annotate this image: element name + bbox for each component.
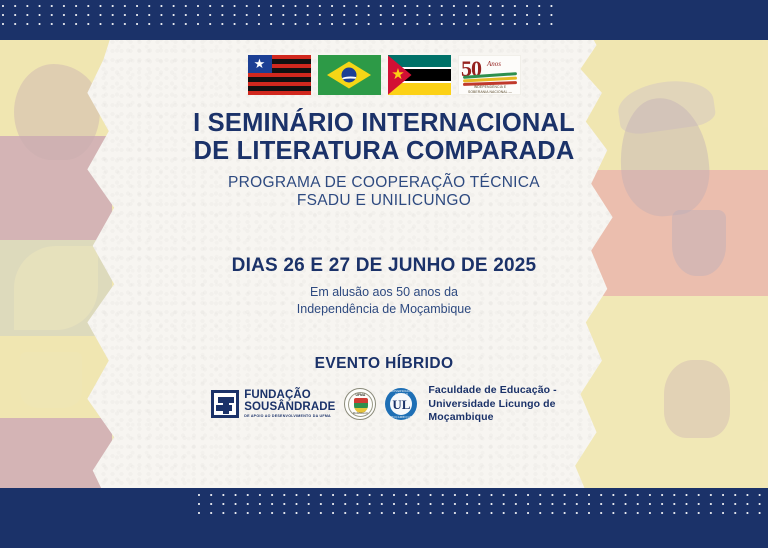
- mozambique-star-icon: ★: [391, 67, 406, 82]
- event-date: DIAS 26 E 27 DE JUNHO DE 2025: [232, 255, 537, 277]
- faculty-line-3: Moçambique: [428, 411, 556, 424]
- top-navy-band: [0, 0, 768, 40]
- event-mode-label: EVENTO HÍBRIDO: [315, 355, 454, 373]
- maranhao-flag: ★: [248, 55, 311, 95]
- unilicungo-monogram: UL: [392, 398, 410, 411]
- bottom-dot-pattern: [198, 494, 768, 518]
- page-title: I SEMINÁRIO INTERNACIONAL DE LITERATURA …: [193, 109, 575, 165]
- poster-canvas: BH: [0, 0, 768, 548]
- anniversary-caption: INDEPENDÊNCIA E SOBERANIA NACIONAL — UNI…: [465, 85, 515, 95]
- fundacao-sousandrade-logo: FUNDAÇÃO SOUSÂNDRADE DE APOIO AO DESENVO…: [211, 390, 335, 418]
- ufma-seal-icon: UFMA MARANHÃO: [344, 388, 376, 420]
- fundacao-tagline: DE APOIO AO DESENVOLVIMENTO DA UFMA: [244, 415, 335, 419]
- ufma-seal-bottom-text: MARANHÃO: [345, 412, 375, 415]
- ufma-seal-top-text: UFMA: [345, 393, 375, 397]
- unilicungo-seal-bottom-text: MOÇAMBIQUE: [385, 416, 417, 419]
- anniversary-50-logo: 50 Anos INDEPENDÊNCIA E SOBERANIA NACION…: [458, 55, 521, 95]
- faculty-line-2: Universidade Licungo de: [428, 398, 556, 411]
- fundacao-line-2: SOUSÂNDRADE: [244, 402, 335, 414]
- subtitle-line-2: FSADU E UNILICUNGO: [228, 192, 540, 210]
- event-date-note: Em alusão aos 50 anos da Independência d…: [297, 284, 471, 318]
- flag-row: ★ ★ 50 Anos INDEPENDÊNCIA: [248, 55, 521, 95]
- poster-content: ★ ★ 50 Anos INDEPENDÊNCIA: [0, 0, 768, 548]
- page-subtitle: PROGRAMA DE COOPERAÇÃO TÉCNICA FSADU E U…: [228, 174, 540, 211]
- faculty-name: Faculdade de Educação - Universidade Lic…: [428, 384, 556, 424]
- brazil-flag: [318, 55, 381, 95]
- fundacao-mark-icon: [211, 390, 239, 418]
- maranhao-star-icon: ★: [248, 55, 272, 73]
- unilicungo-seal-icon: UNIVERSIDADE LICUNGO UL MOÇAMBIQUE: [385, 388, 417, 420]
- subtitle-line-1: PROGRAMA DE COOPERAÇÃO TÉCNICA: [228, 174, 540, 192]
- title-line-2: DE LITERATURA COMPARADA: [193, 137, 575, 165]
- faculty-line-1: Faculdade de Educação -: [428, 384, 556, 397]
- date-note-line-2: Independência de Moçambique: [297, 301, 471, 318]
- title-line-1: I SEMINÁRIO INTERNACIONAL: [193, 109, 575, 137]
- partner-logo-row: FUNDAÇÃO SOUSÂNDRADE DE APOIO AO DESENVO…: [211, 384, 557, 424]
- anniversary-word: Anos: [487, 60, 501, 68]
- date-note-line-1: Em alusão aos 50 anos da: [297, 284, 471, 301]
- bottom-navy-band: [0, 488, 768, 548]
- top-dot-pattern: [2, 5, 558, 29]
- mozambique-flag: ★: [388, 55, 451, 95]
